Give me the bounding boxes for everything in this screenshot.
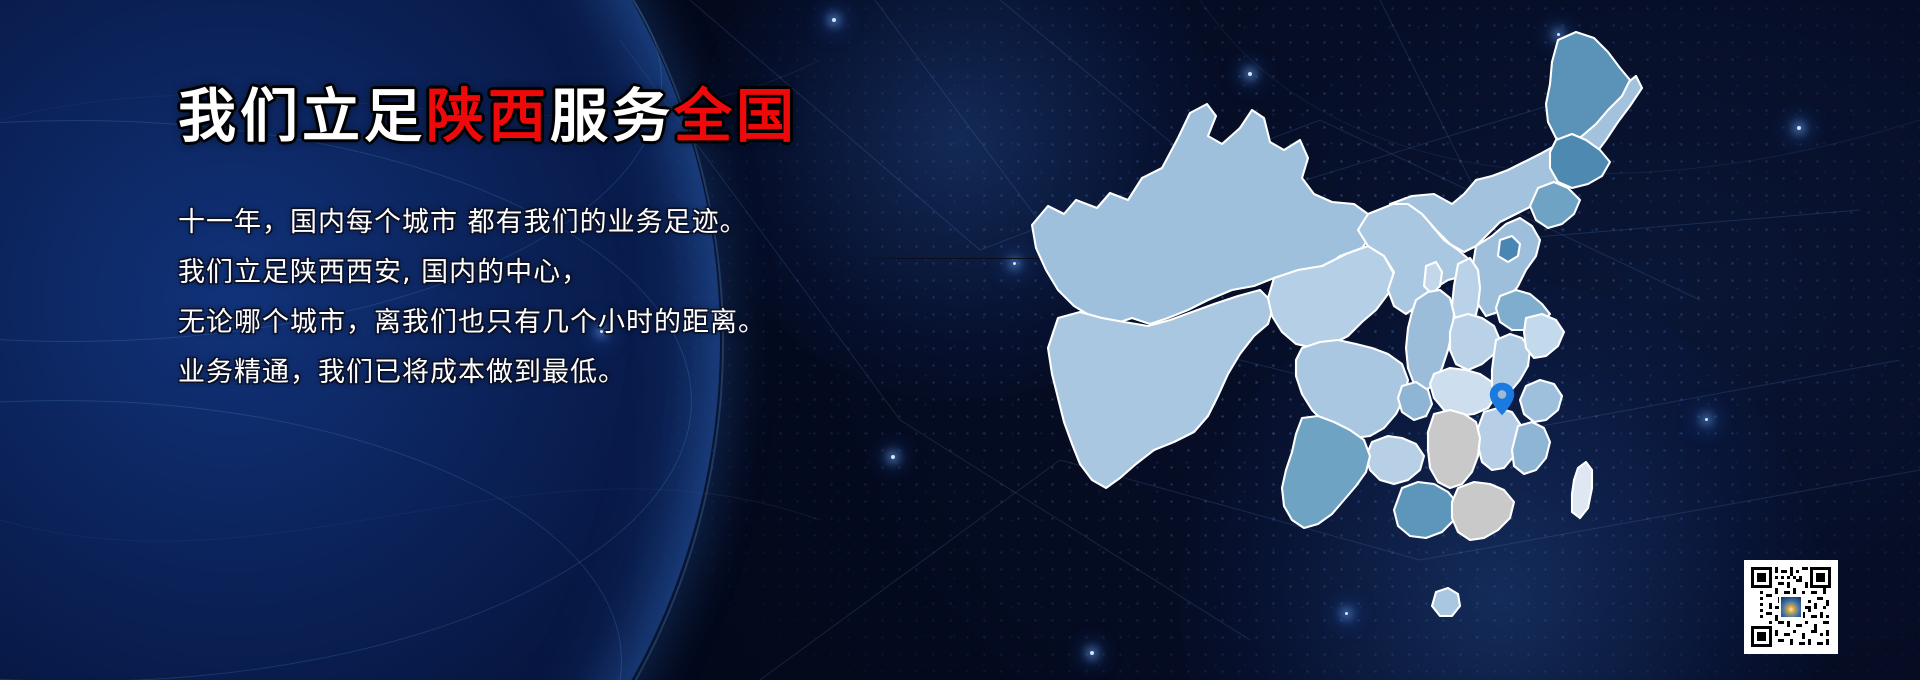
headline: 我们立足陕西服务全国 [178,86,898,146]
copy-block: 我们立足陕西服务全国 十一年，国内每个城市 都有我们的业务足迹。 我们立足陕西西… [178,86,898,398]
province-zhejiang [1520,380,1562,422]
headline-segment-4: 全国 [674,82,798,150]
headline-segment-2: 陕西 [426,82,550,150]
province-taiwan [1572,462,1592,518]
province-guangxi [1394,482,1458,538]
body-line-1: 十一年，国内每个城市 都有我们的业务足迹。 [178,198,898,248]
promo-banner: 我们立足陕西服务全国 十一年，国内每个城市 都有我们的业务足迹。 我们立足陕西西… [0,0,1920,680]
province-hubei [1430,368,1496,416]
province-guangdong [1452,482,1514,540]
body-text: 十一年，国内每个城市 都有我们的业务足迹。 我们立足陕西西安, 国内的中心， 无… [178,198,898,398]
province-hunan [1428,410,1480,488]
qr-canvas [1748,564,1834,650]
province-jiangsu [1524,314,1564,358]
star-glow [832,18,836,22]
star-glow [1705,418,1708,421]
body-line-2: 我们立足陕西西安, 国内的中心， [178,248,898,298]
province-hainan [1432,588,1460,616]
province-fujian [1512,422,1550,474]
body-line-3: 无论哪个城市，离我们也只有几个小时的距离。 [178,298,898,348]
headline-segment-1: 我们立足 [178,82,426,150]
qr-center-logo [1779,595,1803,619]
location-pin-icon[interactable] [1489,382,1515,416]
china-map[interactable] [1002,18,1642,666]
headline-segment-3: 服务 [550,82,674,150]
province-heilongjiang [1546,32,1630,144]
star-glow [1797,126,1801,130]
body-line-4: 业务精通，我们已将成本做到最低。 [178,348,898,398]
province-guizhou [1366,436,1424,484]
qr-code[interactable] [1744,560,1838,654]
star-glow [891,455,895,459]
